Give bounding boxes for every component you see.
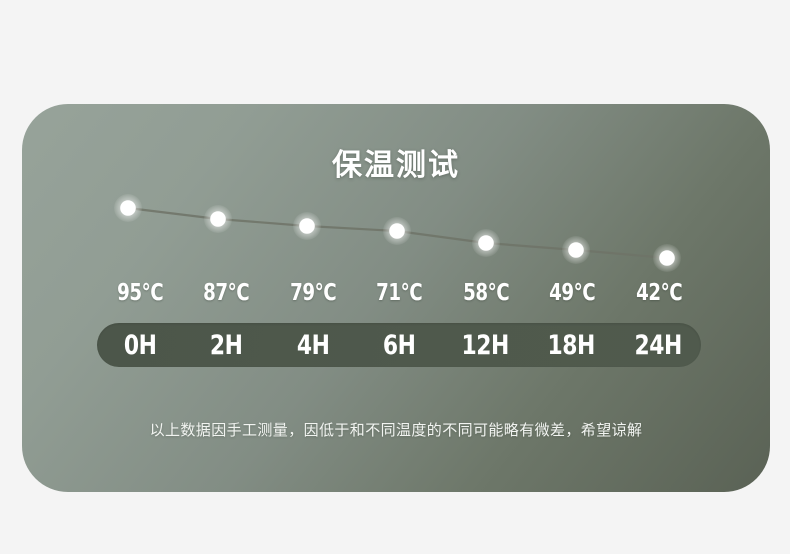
chart-marker xyxy=(383,217,411,245)
temperature-label-row: 95℃ 87℃ 79℃ 71℃ 58℃ 49℃ 42℃ xyxy=(97,280,702,306)
hour-label: 24H xyxy=(619,332,697,359)
temperature-label: 42℃ xyxy=(621,280,697,306)
temperature-label: 49℃ xyxy=(534,280,610,306)
hours-axis-pill: 0H 2H 4H 6H 12H 18H 24H xyxy=(97,323,701,367)
hour-label: 2H xyxy=(188,332,266,359)
hour-label: 4H xyxy=(274,332,352,359)
temperature-label: 87℃ xyxy=(189,280,265,306)
chart-marker xyxy=(472,229,500,257)
temperature-line-chart xyxy=(22,190,770,276)
chart-marker xyxy=(653,244,681,272)
hour-label: 0H xyxy=(101,332,179,359)
page-title: 保温测试 xyxy=(22,140,770,184)
disclaimer-text: 以上数据因手工测量，因低于和不同温度的不同可能略有微差，希望谅解 xyxy=(22,419,770,440)
page-background: 保温测试 xyxy=(0,0,790,554)
chart-marker xyxy=(204,205,232,233)
temperature-label: 71℃ xyxy=(361,280,437,306)
temperature-label: 79℃ xyxy=(275,280,351,306)
chart-marker xyxy=(114,194,142,222)
hour-label: 6H xyxy=(360,332,438,359)
hour-label: 18H xyxy=(533,332,611,359)
temperature-label: 95℃ xyxy=(102,280,178,306)
hour-label: 12H xyxy=(446,332,524,359)
chart-marker xyxy=(562,236,590,264)
chart-marker xyxy=(293,212,321,240)
temperature-label: 58℃ xyxy=(448,280,524,306)
chart-svg xyxy=(22,190,770,276)
insulation-test-card: 保温测试 xyxy=(22,104,770,492)
